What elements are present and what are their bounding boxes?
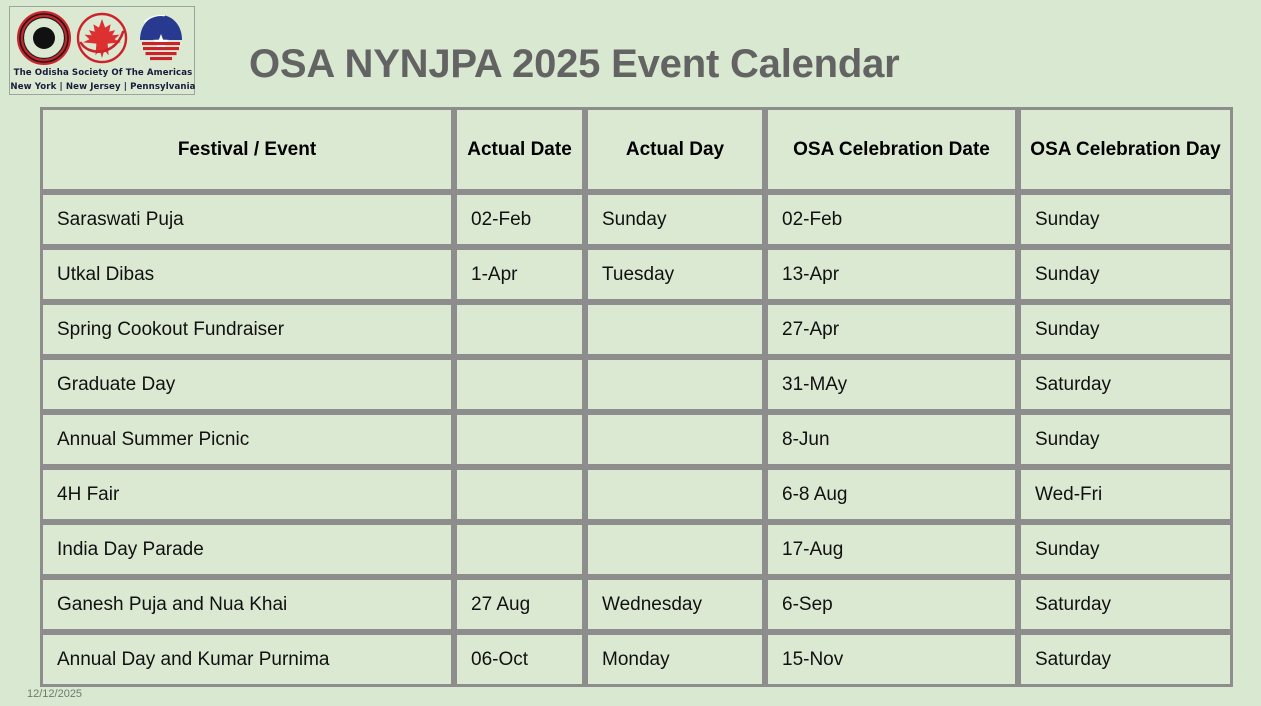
cell-actual-day: Tuesday [585,247,765,302]
table-row: India Day Parade 17-Aug Sunday [40,522,1233,577]
event-calendar-table: Festival / Event Actual Date Actual Day … [40,107,1233,687]
cell-actual-date [454,522,585,577]
usa-flag-dome-emblem [132,10,190,66]
table-row: Annual Day and Kumar Purnima 06-Oct Mond… [40,632,1233,687]
cell-osa-date: 6-8 Aug [765,467,1018,522]
cell-osa-day: Sunday [1018,302,1233,357]
cell-actual-day: Sunday [585,192,765,247]
column-header-actual-day: Actual Day [585,107,765,192]
cell-event: Spring Cookout Fundraiser [40,302,454,357]
logo-caption: The Odisha Society Of The Americas New Y… [10,67,196,94]
table-row: Utkal Dibas 1-Apr Tuesday 13-Apr Sunday [40,247,1233,302]
organization-logo: The Odisha Society Of The Americas New Y… [9,6,195,95]
cell-actual-date: 06-Oct [454,632,585,687]
cell-event: Saraswati Puja [40,192,454,247]
cell-osa-date: 02-Feb [765,192,1018,247]
cell-osa-day: Saturday [1018,357,1233,412]
cell-event: India Day Parade [40,522,454,577]
cell-actual-date [454,412,585,467]
cell-osa-day: Saturday [1018,577,1233,632]
table-row: Graduate Day 31-MAy Saturday [40,357,1233,412]
cell-event: Annual Summer Picnic [40,412,454,467]
canada-maple-leaf-emblem [74,10,130,66]
cell-actual-day: Monday [585,632,765,687]
cell-osa-date: 27-Apr [765,302,1018,357]
cell-osa-date: 8-Jun [765,412,1018,467]
table-row: Ganesh Puja and Nua Khai 27 Aug Wednesda… [40,577,1233,632]
page-title: OSA NYNJPA 2025 Event Calendar [249,42,900,87]
table-row: Annual Summer Picnic 8-Jun Sunday [40,412,1233,467]
cell-osa-date: 6-Sep [765,577,1018,632]
table-row: Spring Cookout Fundraiser 27-Apr Sunday [40,302,1233,357]
cell-event: Utkal Dibas [40,247,454,302]
cell-osa-day: Sunday [1018,192,1233,247]
cell-osa-date: 15-Nov [765,632,1018,687]
cell-osa-day: Saturday [1018,632,1233,687]
cell-osa-day: Wed-Fri [1018,467,1233,522]
cell-actual-day [585,302,765,357]
table-row: Saraswati Puja 02-Feb Sunday 02-Feb Sund… [40,192,1233,247]
cell-actual-date [454,467,585,522]
column-header-osa-celebration-day: OSA Celebration Day [1018,107,1233,192]
cell-event: Annual Day and Kumar Purnima [40,632,454,687]
logo-caption-line-1: The Odisha Society Of The Americas [10,67,196,80]
cell-osa-day: Sunday [1018,247,1233,302]
cell-event: 4H Fair [40,467,454,522]
cell-actual-day: Wednesday [585,577,765,632]
column-header-osa-celebration-date: OSA Celebration Date [765,107,1018,192]
header: The Odisha Society Of The Americas New Y… [0,0,1261,107]
odisha-eye-emblem [16,10,72,66]
cell-osa-day: Sunday [1018,412,1233,467]
cell-event: Graduate Day [40,357,454,412]
cell-actual-day [585,357,765,412]
cell-osa-date: 17-Aug [765,522,1018,577]
cell-actual-date: 02-Feb [454,192,585,247]
table-row: 4H Fair 6-8 Aug Wed-Fri [40,467,1233,522]
cell-actual-date: 27 Aug [454,577,585,632]
cell-osa-date: 31-MAy [765,357,1018,412]
column-header-festival-event: Festival / Event [40,107,454,192]
cell-actual-day [585,467,765,522]
cell-actual-day [585,522,765,577]
cell-osa-date: 13-Apr [765,247,1018,302]
column-header-actual-date: Actual Date [454,107,585,192]
logo-emblems [10,9,196,67]
cell-actual-date [454,357,585,412]
footer-date: 12/12/2025 [27,688,82,700]
cell-osa-day: Sunday [1018,522,1233,577]
cell-actual-day [585,412,765,467]
logo-caption-line-2: New York | New Jersey | Pennsylvania [10,80,196,94]
table-header-row: Festival / Event Actual Date Actual Day … [40,107,1233,192]
cell-event: Ganesh Puja and Nua Khai [40,577,454,632]
cell-actual-date: 1-Apr [454,247,585,302]
cell-actual-date [454,302,585,357]
